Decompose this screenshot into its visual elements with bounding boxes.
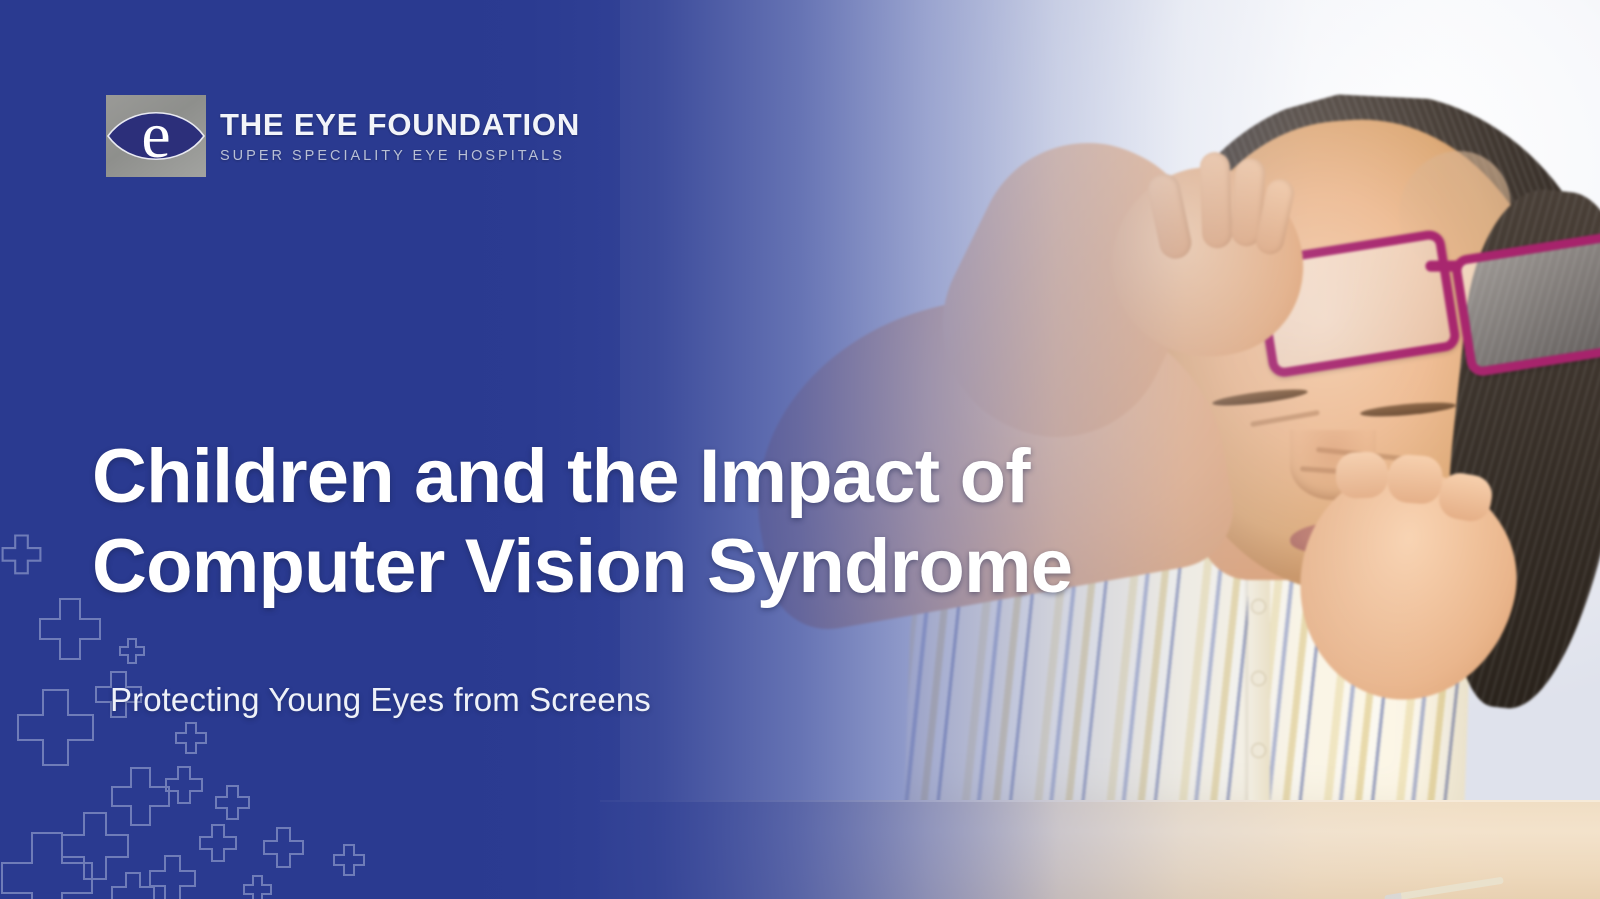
brand-logo[interactable]: e THE EYE FOUNDATION SUPER SPECIALITY EY… [106,95,580,177]
eye-logo-icon: e [106,95,206,177]
hero-banner: e THE EYE FOUNDATION SUPER SPECIALITY EY… [0,0,1600,899]
hero-subtitle: Protecting Young Eyes from Screens [110,680,651,720]
logo-subtitle: SUPER SPECIALITY EYE HOSPITALS [220,149,580,164]
hero-heading: Children and the Impact of Computer Visi… [92,432,1272,613]
title-line-2: Computer Vision Syndrome [92,522,1272,612]
logo-title: THE EYE FOUNDATION [220,109,580,140]
svg-text:e: e [141,99,170,172]
title-line-1: Children and the Impact of [92,432,1272,522]
page-title: Children and the Impact of Computer Visi… [92,432,1272,613]
logo-wordmark: THE EYE FOUNDATION SUPER SPECIALITY EYE … [220,109,580,164]
